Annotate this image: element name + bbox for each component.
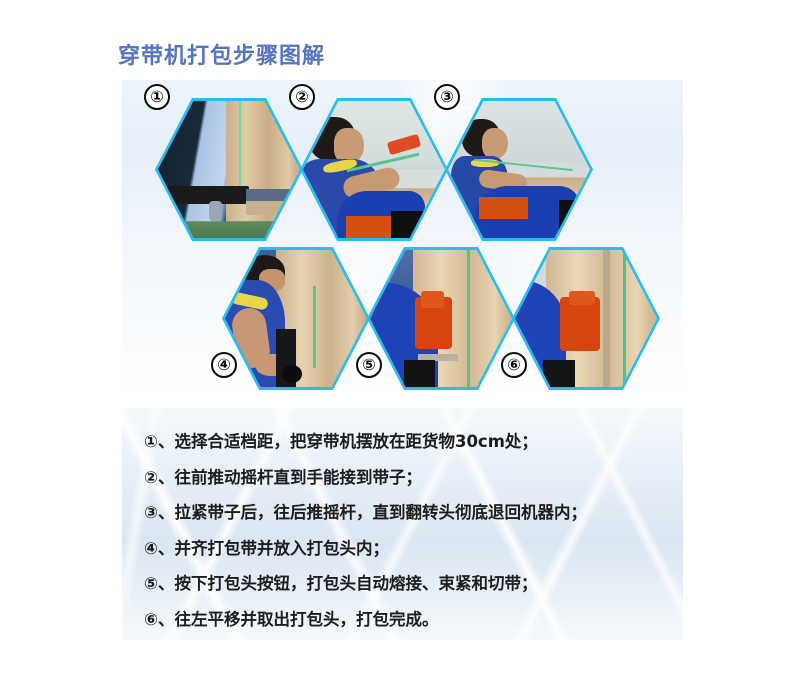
photo-removing-packing-head-left [515, 250, 657, 387]
hexagon-badge-1: ① [144, 84, 170, 110]
machine-dark-part [559, 200, 582, 238]
hexagon-step-6[interactable] [512, 247, 660, 390]
packing-head-button [421, 291, 444, 307]
pallet-shadow [246, 189, 294, 201]
strap-band [313, 286, 316, 368]
photo-worker-pulling-strap-forward [303, 101, 445, 238]
hexagon-photo-1 [158, 101, 300, 238]
machine-dark-part [391, 211, 425, 238]
photo-machine-beside-wooden-crate [158, 101, 300, 238]
hexagon-step-4[interactable] [222, 247, 370, 390]
hexagon-badge-3: ③ [434, 84, 460, 110]
packing-head-knob [282, 365, 302, 383]
hexagon-step-2[interactable] [300, 98, 448, 241]
orange-tool [387, 134, 421, 155]
page-title: 穿带机打包步骤图解 [118, 38, 325, 70]
strap-band [239, 101, 241, 186]
strap-band [623, 250, 626, 387]
hexagon-badge-6: ⑥ [501, 352, 527, 378]
machine-dark-part [543, 360, 574, 387]
hexagon-photo-3 [448, 101, 590, 238]
hexagon-badge-5: ⑤ [356, 352, 382, 378]
hexagon-step-5[interactable] [367, 247, 515, 390]
worker-face [482, 128, 508, 159]
hexagon-step-3[interactable] [445, 98, 593, 241]
photo-worker-pushing-lever-back [448, 101, 590, 238]
step-item-4: ④、并齐打包带并放入打包头内； [144, 541, 683, 558]
steps-list: ①、选择合适档距，把穿带机摆放在距货物30cm处； ②、往前推动摇杆直到手能接到… [122, 408, 683, 628]
pallet-block [246, 201, 289, 215]
hexagon-step-1[interactable] [155, 98, 303, 241]
hexagon-badge-4: ④ [211, 352, 237, 378]
step-item-5: ⑤、按下打包头按钮，打包头自动熔接、束紧和切带； [144, 576, 683, 593]
machine-wheel [209, 201, 222, 221]
machine-base [167, 186, 249, 204]
hexagon-photo-2 [303, 101, 445, 238]
hexagon-photo-4 [225, 250, 367, 387]
step-item-2: ②、往前推动摇杆直到手能接到带子； [144, 470, 683, 487]
step-item-3: ③、拉紧带子后，往后推摇杆，直到翻转头彻底退回机器内； [144, 505, 683, 522]
machine-dark-part [404, 360, 435, 387]
machine-orange-part [346, 216, 394, 238]
hexagon-gallery-panel: ① ② [122, 80, 683, 398]
strap-band [467, 250, 470, 387]
packing-head-button [569, 291, 595, 305]
step-item-1: ①、选择合适档距，把穿带机摆放在距货物30cm处； [144, 434, 683, 451]
crate-post [603, 250, 610, 387]
steps-text-panel: ①、选择合适档距，把穿带机摆放在距货物30cm处； ②、往前推动摇杆直到手能接到… [122, 408, 683, 640]
step-item-6: ⑥、往左平移并取出打包头，打包完成。 [144, 612, 683, 629]
hexagon-photo-5 [370, 250, 512, 387]
photo-worker-inserting-straps-into-head [225, 250, 367, 387]
hexagon-photo-6 [515, 250, 657, 387]
hexagon-badge-2: ② [289, 84, 315, 110]
packing-head-orange [560, 297, 600, 352]
machine-orange-part [479, 197, 527, 219]
photo-pressing-packing-head-button [370, 250, 512, 387]
